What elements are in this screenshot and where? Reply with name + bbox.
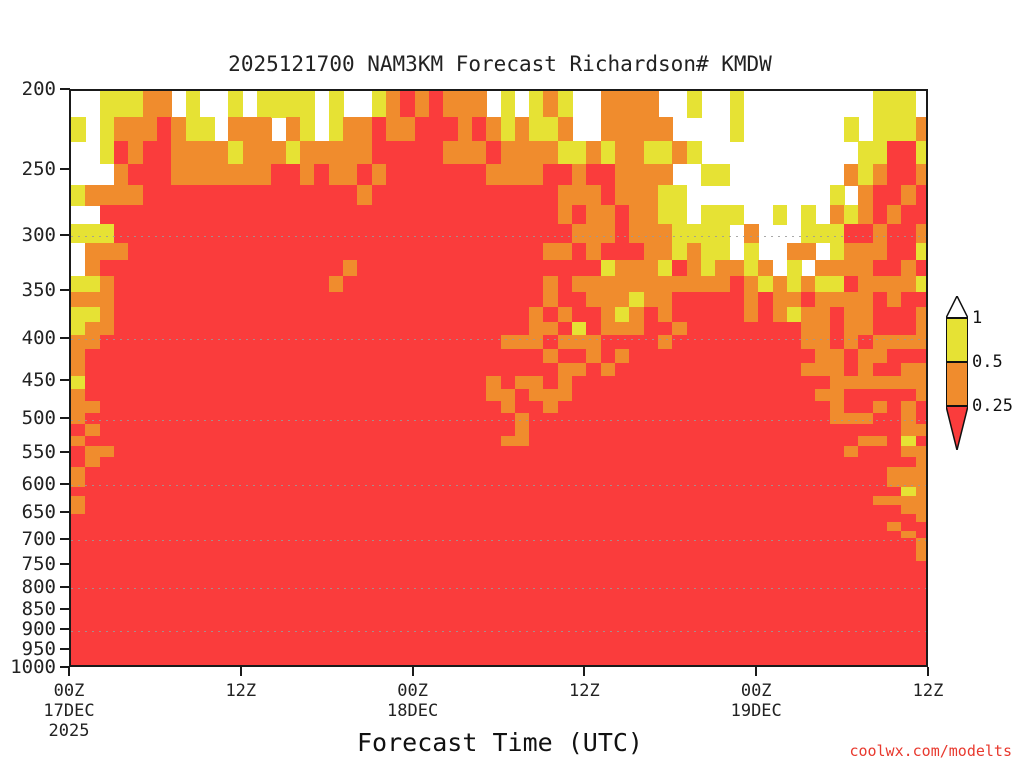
heatmap-cell	[429, 185, 444, 206]
heatmap-cell	[515, 117, 530, 142]
heatmap-cell	[415, 401, 430, 414]
heatmap-cell	[615, 467, 630, 478]
heatmap-cell	[830, 292, 845, 308]
heatmap-cell	[400, 363, 415, 377]
heatmap-cell	[773, 363, 788, 377]
heatmap-cell	[343, 363, 358, 377]
heatmap-cell	[286, 349, 301, 363]
heatmap-cell	[200, 376, 215, 389]
heatmap-cell	[443, 413, 458, 425]
y-axis-tick	[60, 538, 70, 540]
heatmap-cell	[157, 164, 172, 186]
heatmap-cell	[644, 91, 659, 118]
heatmap-cell	[71, 307, 86, 322]
heatmap-cell	[300, 446, 315, 457]
heatmap-cell	[901, 292, 916, 308]
heatmap-cell	[386, 164, 401, 186]
heatmap-cell	[386, 243, 401, 261]
heatmap-cell	[672, 446, 687, 457]
heatmap-cell	[629, 260, 644, 277]
heatmap-cell	[257, 349, 272, 363]
heatmap-cell	[687, 307, 702, 322]
heatmap-cell	[343, 446, 358, 457]
heatmap-cell	[486, 307, 501, 322]
heatmap-cell	[400, 91, 415, 118]
heatmap-cell	[100, 335, 115, 349]
heatmap-cell	[543, 335, 558, 349]
heatmap-cell	[458, 205, 473, 225]
heatmap-cell	[916, 185, 928, 206]
heatmap-cell	[658, 117, 673, 142]
heatmap-cell	[515, 424, 530, 436]
heatmap-cell	[787, 389, 802, 402]
heatmap-cell	[386, 664, 401, 666]
heatmap-cell	[143, 185, 158, 206]
heatmap-cell	[687, 467, 702, 478]
heatmap-cell	[243, 117, 258, 142]
heatmap-cell	[286, 185, 301, 206]
heatmap-cell	[715, 664, 730, 666]
heatmap-cell	[644, 436, 659, 447]
heatmap-cell	[128, 141, 143, 164]
heatmap-cell	[916, 164, 928, 186]
heatmap-cell	[501, 243, 516, 261]
heatmap-cell	[243, 260, 258, 277]
heatmap-cell	[501, 322, 516, 337]
heatmap-cell	[429, 401, 444, 414]
heatmap-cell	[171, 224, 186, 243]
colorbar-tick	[946, 405, 968, 407]
heatmap-cell	[758, 389, 773, 402]
heatmap-cell	[501, 436, 516, 447]
heatmap-cell	[71, 335, 86, 349]
heatmap-cell	[486, 260, 501, 277]
heatmap-cell	[200, 389, 215, 402]
heatmap-cell	[758, 664, 773, 666]
heatmap-cell	[286, 467, 301, 478]
heatmap-cell	[815, 224, 830, 243]
heatmap-cell	[314, 363, 329, 377]
heatmap-cell	[486, 666, 501, 667]
heatmap-cell	[128, 292, 143, 308]
heatmap-cell	[243, 436, 258, 447]
heatmap-cell	[873, 389, 888, 402]
heatmap-cell	[715, 424, 730, 436]
heatmap-cell	[400, 664, 415, 666]
heatmap-cell	[300, 413, 315, 425]
heatmap-cell	[443, 401, 458, 414]
heatmap-cell	[815, 401, 830, 414]
heatmap-cell	[687, 413, 702, 425]
heatmap-cell	[873, 243, 888, 261]
heatmap-cell	[543, 141, 558, 164]
heatmap-cell	[300, 224, 315, 243]
heatmap-cell	[858, 224, 873, 243]
heatmap-cell	[128, 322, 143, 337]
heatmap-cell	[214, 446, 229, 457]
heatmap-cell	[186, 446, 201, 457]
heatmap-cell	[501, 185, 516, 206]
heatmap-cell	[357, 164, 372, 186]
heatmap-cell	[372, 401, 387, 414]
heatmap-cell	[171, 664, 186, 666]
heatmap-cell	[186, 424, 201, 436]
heatmap-cell	[143, 260, 158, 277]
heatmap-cell	[486, 322, 501, 337]
heatmap-cells	[71, 91, 926, 665]
y-axis-tick	[60, 483, 70, 485]
heatmap-cell	[214, 424, 229, 436]
heatmap-cell	[386, 91, 401, 118]
heatmap-cell	[71, 322, 86, 337]
heatmap-cell	[458, 413, 473, 425]
heatmap-cell	[687, 260, 702, 277]
heatmap-cell	[386, 467, 401, 478]
heatmap-cell	[543, 457, 558, 468]
heatmap-cell	[458, 224, 473, 243]
heatmap-cell	[415, 446, 430, 457]
heatmap-cell	[415, 664, 430, 666]
heatmap-cell	[100, 363, 115, 377]
heatmap-cell	[858, 292, 873, 308]
heatmap-cell	[472, 413, 487, 425]
heatmap-cell	[858, 260, 873, 277]
heatmap-cell	[143, 436, 158, 447]
heatmap-cell	[730, 205, 745, 225]
heatmap-cell	[830, 424, 845, 436]
heatmap-cell	[858, 424, 873, 436]
heatmap-cell	[887, 260, 902, 277]
heatmap-cell	[629, 335, 644, 349]
heatmap-cell	[400, 205, 415, 225]
heatmap-cell	[615, 349, 630, 363]
heatmap-cell	[815, 413, 830, 425]
heatmap-cell	[243, 335, 258, 349]
heatmap-cell	[85, 307, 100, 322]
heatmap-cell	[271, 260, 286, 277]
heatmap-cell	[300, 322, 315, 337]
heatmap-cell	[114, 376, 129, 389]
heatmap-cell	[329, 424, 344, 436]
heatmap-cell	[386, 322, 401, 337]
heatmap-cell	[744, 322, 759, 337]
heatmap-cell	[586, 467, 601, 478]
heatmap-cell	[543, 467, 558, 478]
heatmap-cell	[400, 260, 415, 277]
heatmap-cell	[543, 185, 558, 206]
heatmap-cell	[372, 467, 387, 478]
heatmap-cell	[114, 322, 129, 337]
y-axis-tick	[60, 648, 70, 650]
heatmap-cell	[257, 205, 272, 225]
heatmap-cell	[85, 457, 100, 468]
heatmap-cell	[415, 276, 430, 292]
heatmap-cell	[114, 307, 129, 322]
heatmap-cell	[658, 335, 673, 349]
heatmap-cell	[730, 91, 745, 118]
heatmap-cell	[715, 389, 730, 402]
heatmap-cell	[257, 260, 272, 277]
y-axis-tick-label: 750	[0, 555, 56, 574]
heatmap-cell	[343, 307, 358, 322]
heatmap-cell	[730, 349, 745, 363]
heatmap-cell	[415, 424, 430, 436]
heatmap-cell	[701, 436, 716, 447]
heatmap-cell	[357, 363, 372, 377]
heatmap-cell	[343, 322, 358, 337]
heatmap-cell	[458, 467, 473, 478]
heatmap-cell	[314, 141, 329, 164]
heatmap-cell	[787, 467, 802, 478]
heatmap-cell	[644, 276, 659, 292]
heatmap-cell	[472, 205, 487, 225]
heatmap-cell	[916, 446, 928, 457]
heatmap-cell	[901, 276, 916, 292]
heatmap-cell	[472, 389, 487, 402]
heatmap-cell	[773, 666, 788, 667]
heatmap-cell	[730, 376, 745, 389]
heatmap-cell	[458, 117, 473, 142]
heatmap-cell	[730, 276, 745, 292]
heatmap-cell	[472, 91, 487, 118]
heatmap-cell	[128, 335, 143, 349]
heatmap-cell	[629, 91, 644, 118]
heatmap-cell	[801, 292, 816, 308]
heatmap-cell	[214, 401, 229, 414]
heatmap-cell	[773, 424, 788, 436]
heatmap-cell	[844, 457, 859, 468]
heatmap-cell	[787, 335, 802, 349]
heatmap-cell	[472, 185, 487, 206]
heatmap-cell	[329, 664, 344, 666]
heatmap-cell	[314, 424, 329, 436]
heatmap-cell	[515, 664, 530, 666]
heatmap-cell	[243, 389, 258, 402]
heatmap-cell	[887, 335, 902, 349]
heatmap-cell	[271, 243, 286, 261]
heatmap-cell	[300, 91, 315, 118]
heatmap-cell	[887, 141, 902, 164]
heatmap-cell	[830, 260, 845, 277]
heatmap-cell	[629, 376, 644, 389]
heatmap-cell	[228, 413, 243, 425]
heatmap-cell	[286, 164, 301, 186]
heatmap-cell	[100, 185, 115, 206]
heatmap-cell	[100, 91, 115, 118]
heatmap-cell	[658, 363, 673, 377]
heatmap-cell	[186, 224, 201, 243]
heatmap-cell	[558, 664, 573, 666]
y-axis-tick	[60, 289, 70, 291]
heatmap-cell	[143, 349, 158, 363]
heatmap-cell	[615, 276, 630, 292]
heatmap-cell	[157, 664, 172, 666]
heatmap-cell	[672, 467, 687, 478]
heatmap-cell	[615, 141, 630, 164]
heatmap-cell	[357, 349, 372, 363]
heatmap-cell	[85, 664, 100, 666]
heatmap-cell	[701, 363, 716, 377]
heatmap-cell	[773, 322, 788, 337]
heatmap-cell	[243, 205, 258, 225]
heatmap-cell	[543, 666, 558, 667]
heatmap-cell	[200, 664, 215, 666]
heatmap-cell	[715, 436, 730, 447]
heatmap-cell	[257, 276, 272, 292]
heatmap-cell	[329, 335, 344, 349]
heatmap-cell	[314, 389, 329, 402]
heatmap-cell	[472, 307, 487, 322]
heatmap-cell	[844, 335, 859, 349]
heatmap-cell	[214, 413, 229, 425]
heatmap-cell	[300, 164, 315, 186]
heatmap-cell	[472, 467, 487, 478]
heatmap-cell	[85, 467, 100, 478]
heatmap-cell	[858, 164, 873, 186]
heatmap-cell	[787, 401, 802, 414]
heatmap-cell	[329, 141, 344, 164]
heatmap-cell	[501, 389, 516, 402]
heatmap-cell	[314, 467, 329, 478]
heatmap-cell	[787, 292, 802, 308]
heatmap-cell	[200, 457, 215, 468]
heatmap-cell	[773, 446, 788, 457]
heatmap-cell	[644, 413, 659, 425]
heatmap-cell	[443, 335, 458, 349]
heatmap-cell	[644, 389, 659, 402]
heatmap-cell	[830, 307, 845, 322]
heatmap-cell	[257, 363, 272, 377]
heatmap-cell	[601, 457, 616, 468]
heatmap-cell	[472, 446, 487, 457]
heatmap-cell	[887, 185, 902, 206]
heatmap-cell	[543, 224, 558, 243]
heatmap-cell	[601, 185, 616, 206]
heatmap-cell	[701, 322, 716, 337]
heatmap-cell	[586, 292, 601, 308]
heatmap-cell	[658, 307, 673, 322]
heatmap-cell	[143, 164, 158, 186]
heatmap-cell	[286, 389, 301, 402]
heatmap-cell	[186, 401, 201, 414]
heatmap-cell	[901, 446, 916, 457]
heatmap-cell	[687, 349, 702, 363]
heatmap-cell	[758, 363, 773, 377]
heatmap-cell	[372, 424, 387, 436]
heatmap-cell	[400, 446, 415, 457]
heatmap-cell	[916, 457, 928, 468]
heatmap-cell	[558, 276, 573, 292]
heatmap-cell	[429, 141, 444, 164]
heatmap-cell	[873, 664, 888, 666]
heatmap-cell	[543, 436, 558, 447]
heatmap-cell	[486, 664, 501, 666]
heatmap-cell	[501, 224, 516, 243]
heatmap-cell	[529, 117, 544, 142]
heatmap-cell	[586, 276, 601, 292]
heatmap-cell	[515, 224, 530, 243]
heatmap-cell	[758, 292, 773, 308]
heatmap-cell	[372, 349, 387, 363]
heatmap-cell	[100, 322, 115, 337]
heatmap-cell	[629, 322, 644, 337]
heatmap-cell	[257, 335, 272, 349]
heatmap-cell	[844, 446, 859, 457]
heatmap-cell	[458, 292, 473, 308]
heatmap-cell	[515, 666, 530, 667]
heatmap-cell	[443, 666, 458, 667]
heatmap-cell	[715, 363, 730, 377]
heatmap-cell	[873, 322, 888, 337]
heatmap-cell	[916, 349, 928, 363]
heatmap-cell	[143, 292, 158, 308]
heatmap-cell	[143, 205, 158, 225]
heatmap-cell	[300, 205, 315, 225]
heatmap-cell	[586, 664, 601, 666]
heatmap-cell	[443, 117, 458, 142]
heatmap-cell	[343, 117, 358, 142]
heatmap-cell	[515, 349, 530, 363]
heatmap-cell	[286, 205, 301, 225]
heatmap-cell	[314, 224, 329, 243]
heatmap-cell	[372, 389, 387, 402]
heatmap-cell	[329, 322, 344, 337]
heatmap-cell	[458, 307, 473, 322]
heatmap-cell	[100, 424, 115, 436]
heatmap-cell	[558, 185, 573, 206]
heatmap-cell	[257, 436, 272, 447]
heatmap-cell	[744, 363, 759, 377]
heatmap-cell	[214, 457, 229, 468]
heatmap-cell	[171, 363, 186, 377]
heatmap-cell	[257, 322, 272, 337]
y-axis-tick-label: 850	[0, 600, 56, 619]
heatmap-cell	[472, 224, 487, 243]
heatmap-cell	[100, 436, 115, 447]
heatmap-cell	[586, 436, 601, 447]
heatmap-cell	[171, 322, 186, 337]
heatmap-cell	[186, 141, 201, 164]
heatmap-cell	[386, 413, 401, 425]
heatmap-cell	[858, 664, 873, 666]
heatmap-cell	[601, 205, 616, 225]
heatmap-cell	[830, 457, 845, 468]
heatmap-cell	[143, 141, 158, 164]
y-axis-tick	[60, 586, 70, 588]
heatmap-cell	[529, 322, 544, 337]
heatmap-cell	[887, 457, 902, 468]
heatmap-cell	[873, 260, 888, 277]
heatmap-cell	[300, 363, 315, 377]
heatmap-cell	[844, 260, 859, 277]
y-axis-tick-label: 250	[0, 160, 56, 179]
heatmap-cell	[687, 276, 702, 292]
colorbar-segment-yellow	[946, 318, 968, 362]
heatmap-cell	[329, 292, 344, 308]
heatmap-cell	[171, 141, 186, 164]
heatmap-cell	[758, 413, 773, 425]
heatmap-cell	[243, 141, 258, 164]
heatmap-cell	[357, 205, 372, 225]
heatmap-cell	[586, 376, 601, 389]
heatmap-cell	[644, 164, 659, 186]
heatmap-cell	[701, 389, 716, 402]
heatmap-cell	[887, 205, 902, 225]
heatmap-cell	[329, 185, 344, 206]
heatmap-cell	[400, 389, 415, 402]
heatmap-cell	[443, 205, 458, 225]
heatmap-cell	[615, 307, 630, 322]
